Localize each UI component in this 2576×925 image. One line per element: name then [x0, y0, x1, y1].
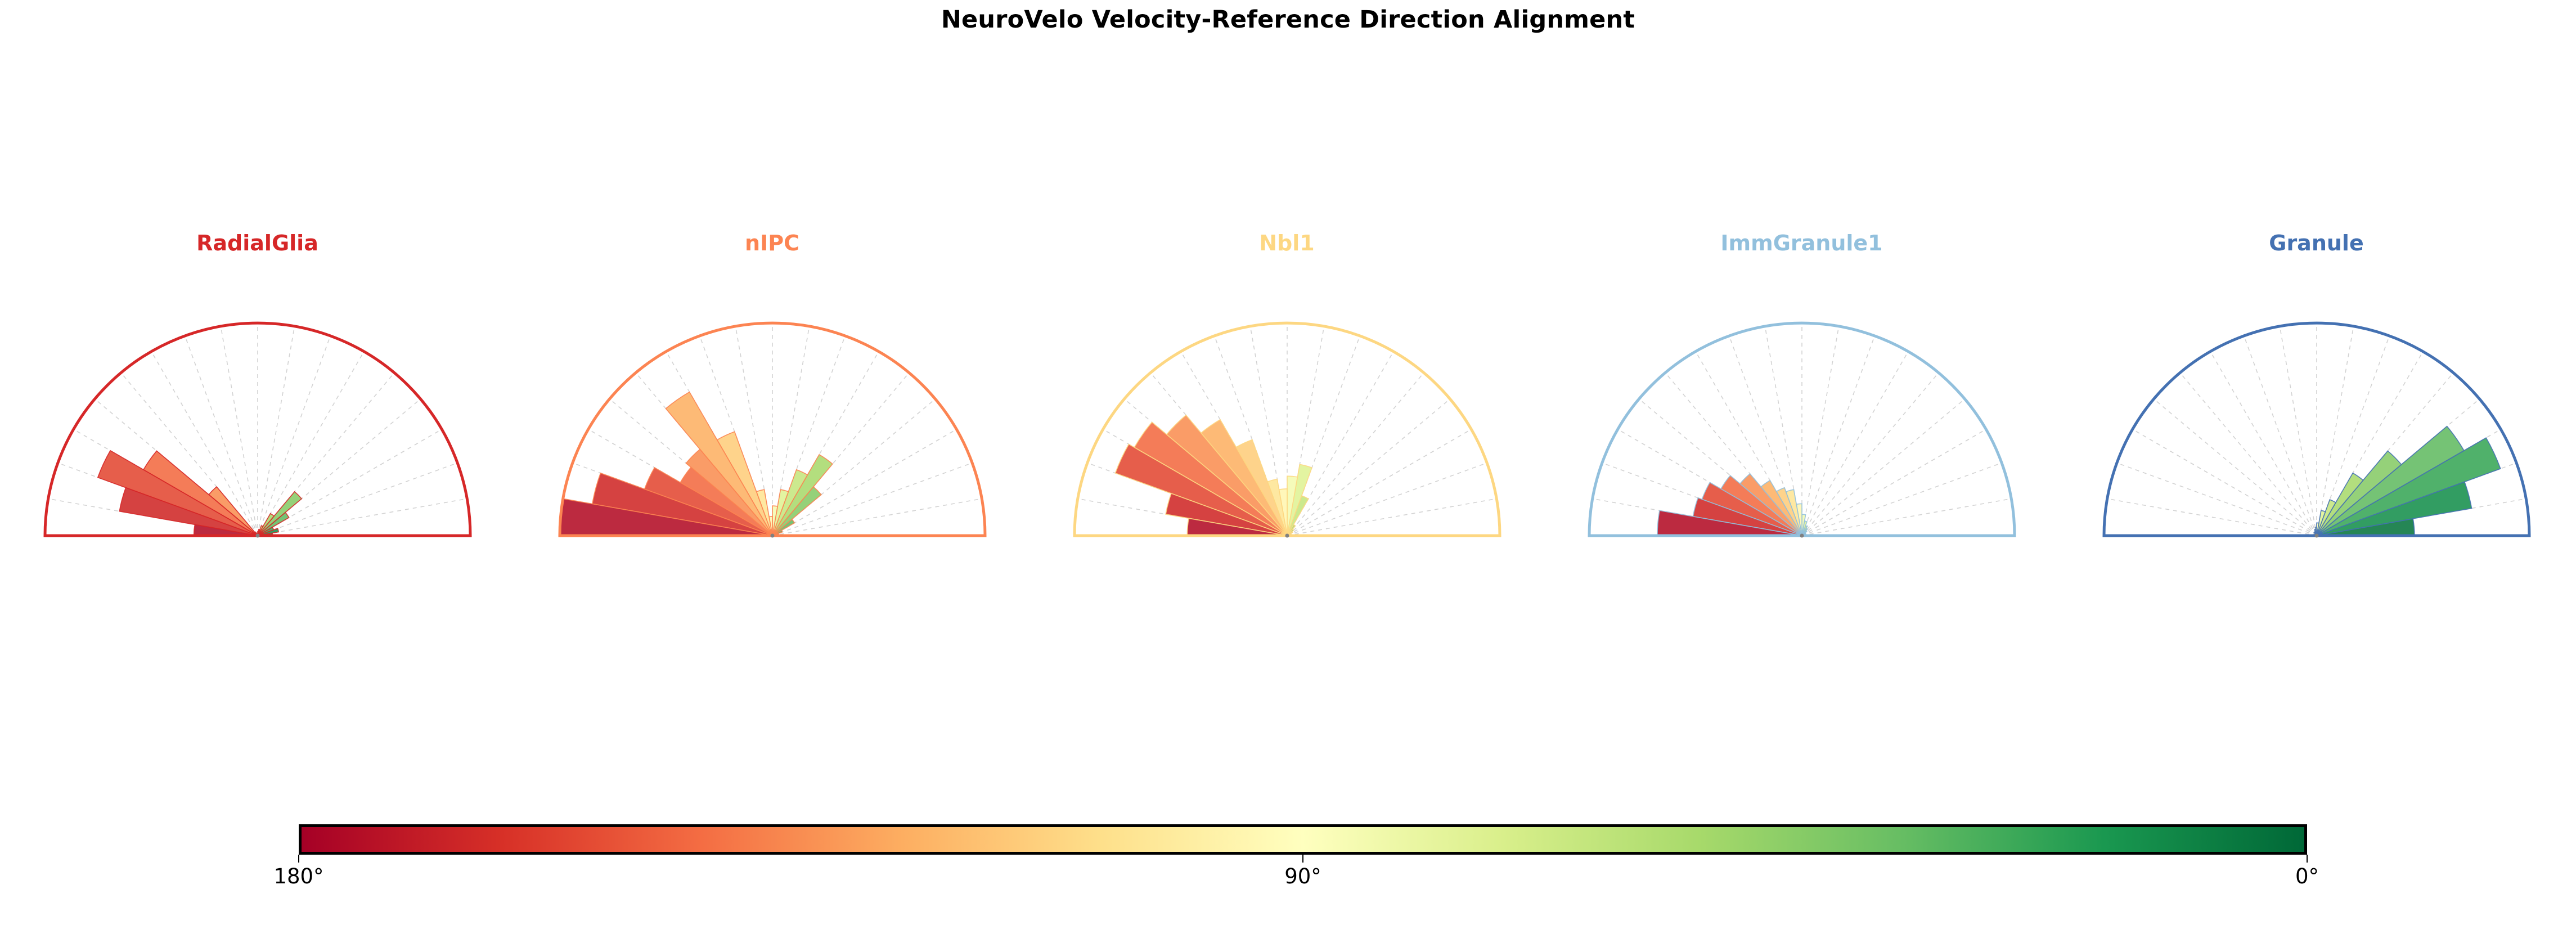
grid-spoke: [1802, 352, 1908, 536]
grid-spoke: [1802, 463, 2002, 536]
colorbar-tick: [1302, 855, 1303, 863]
polar-panel-nipc: nIPC: [515, 231, 1029, 568]
grid-spoke: [1802, 326, 1839, 536]
panel-plot-area: [1029, 315, 1544, 551]
panel-plot-area: [1544, 315, 2059, 551]
rose-diagram: [2059, 315, 2574, 551]
colorbar-tick: [2307, 855, 2308, 863]
panel-title: nIPC: [515, 231, 1029, 255]
panel-title: Granule: [2059, 231, 2574, 255]
grid-spoke: [1287, 499, 1496, 536]
colorbar-region: 180°90°0°: [0, 810, 2576, 923]
polar-origin-marker: [256, 534, 260, 538]
grid-spoke: [2133, 429, 2317, 536]
polar-panels-row: RadialGlianIPCNbl1ImmGranule1Granule: [0, 231, 2576, 568]
page-title: NeuroVelo Velocity-Reference Direction A…: [0, 6, 2576, 34]
grid-spoke: [2107, 499, 2317, 536]
polar-origin-marker: [1800, 534, 1804, 538]
grid-spoke: [1802, 429, 1986, 536]
rose-diagram: [1544, 315, 2059, 551]
polar-origin-marker: [771, 534, 775, 538]
colorbar-gradient: [302, 827, 2304, 852]
polar-panel-radialglia: RadialGlia: [0, 231, 515, 568]
angle-colorbar[interactable]: [299, 824, 2307, 855]
panel-title: Nbl1: [1029, 231, 1544, 255]
panel-title: ImmGranule1: [1544, 231, 2059, 255]
grid-spoke: [2280, 326, 2317, 536]
rose-bars: [1116, 415, 1312, 536]
rose-bar: [258, 492, 302, 536]
panel-plot-area: [0, 315, 515, 551]
grid-spoke: [1287, 429, 1471, 536]
panel-title: RadialGlia: [0, 231, 515, 255]
grid-spoke: [1802, 499, 2011, 536]
rose-bars: [2312, 426, 2500, 536]
polar-origin-marker: [2315, 534, 2319, 538]
grid-spoke: [2117, 463, 2317, 536]
polar-grid: [45, 323, 470, 536]
colorbar-tick-label: 180°: [214, 864, 383, 888]
polar-panel-granule: Granule: [2059, 231, 2574, 568]
rose-bars: [1657, 474, 1808, 536]
rose-bar: [98, 451, 258, 536]
rose-diagram: [515, 315, 1029, 551]
colorbar-tick-label: 90°: [1219, 864, 1387, 888]
panel-plot-area: [515, 315, 1029, 551]
grid-spoke: [1287, 463, 1487, 536]
colorbar-tick-label: 0°: [2223, 864, 2391, 888]
polar-origin-marker: [1285, 534, 1289, 538]
grid-spoke: [2210, 352, 2317, 536]
polar-panel-nbl1: Nbl1: [1029, 231, 1544, 568]
rose-diagram: [1029, 315, 1544, 551]
grid-spoke: [1802, 336, 1874, 536]
panel-plot-area: [2059, 315, 2574, 551]
grid-spoke: [2244, 336, 2317, 536]
rose-diagram: [0, 315, 515, 551]
grid-spoke: [258, 352, 364, 536]
rose-bars: [560, 392, 833, 536]
rose-bars: [98, 451, 302, 536]
colorbar-tick: [298, 855, 299, 863]
polar-panel-immgranule1: ImmGranule1: [1544, 231, 2059, 568]
